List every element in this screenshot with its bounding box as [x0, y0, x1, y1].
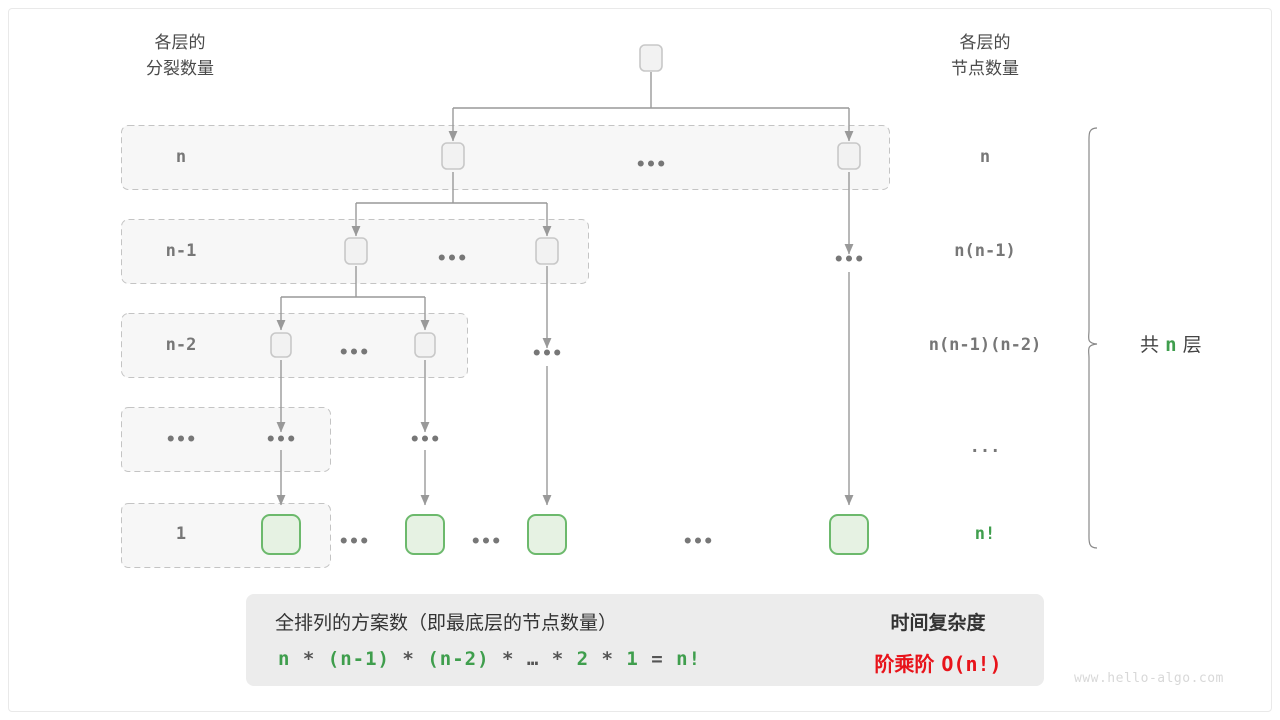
node-count-label-4: n!: [885, 524, 1085, 544]
leaf-ellipsis-1: •••: [334, 532, 374, 552]
node-l3-left: [271, 333, 291, 357]
formula-part-3: *: [390, 648, 427, 670]
complexity-label: 阶乘阶: [874, 652, 934, 676]
formula-part-2: (n-1): [328, 648, 390, 670]
total-levels-prefix: 共: [1140, 334, 1159, 356]
leaf-node-3: [528, 515, 566, 554]
formula-part-7: *: [589, 648, 626, 670]
node-l2-right: [536, 238, 558, 264]
column-ellipsis-right-upper: •••: [829, 250, 869, 270]
node-l2-left: [345, 238, 367, 264]
leaf-ellipsis-2: •••: [466, 532, 506, 552]
column-ellipsis-mid-lower: •••: [405, 430, 445, 450]
node-count-label-1: n(n-1): [885, 241, 1085, 261]
split-count-label-4: 1: [146, 524, 216, 544]
total-levels-suffix: 层: [1183, 334, 1202, 356]
total-levels-brace: [1089, 128, 1097, 548]
column-ellipsis-mid-upper: •••: [527, 344, 567, 364]
node-l3-right: [415, 333, 435, 357]
formula-part-8: 1: [626, 648, 638, 670]
row-ellipsis-n2-mid: •••: [334, 343, 374, 363]
formula-part-5: * … *: [490, 648, 577, 670]
column-ellipsis-left-lower: •••: [261, 430, 301, 450]
leaf-node-2: [406, 515, 444, 554]
split-count-label-3: •••: [161, 430, 201, 450]
node-l1-right: [838, 143, 860, 169]
complexity-value: 阶乘阶 O(n!): [843, 648, 1033, 677]
row-ellipsis-n-mid: •••: [631, 155, 671, 175]
split-count-label-1: n-1: [146, 241, 216, 261]
formula-part-10: n!: [676, 648, 701, 670]
node-count-label-2: n(n-1)(n-2): [885, 335, 1085, 355]
formula-part-0: n: [278, 648, 290, 670]
node-l1-left: [442, 143, 464, 169]
formula-part-6: 2: [577, 648, 589, 670]
total-levels-value: n: [1165, 334, 1176, 356]
node-count-label-0: n: [885, 147, 1085, 167]
split-count-label-2: n-2: [146, 335, 216, 355]
formula-part-4: (n-2): [427, 648, 489, 670]
leaf-node-4: [830, 515, 868, 554]
total-levels-label: 共 n 层: [1140, 330, 1202, 357]
diagram-canvas: 各层的 分裂数量 各层的 节点数量: [0, 0, 1280, 720]
formula-part-1: *: [290, 648, 327, 670]
row-band-n: [122, 126, 890, 190]
row-ellipsis-n1-mid: •••: [432, 249, 472, 269]
leaf-ellipsis-3: •••: [678, 532, 718, 552]
complexity-notation: O(n!): [941, 652, 1001, 676]
watermark: www.hello-algo.com: [1074, 671, 1224, 686]
leaf-node-1: [262, 515, 300, 554]
summary-title: 全排列的方案数（即最底层的节点数量）: [275, 608, 617, 635]
tree-nodes: [271, 45, 860, 357]
summary-formula: n * (n-1) * (n-2) * … * 2 * 1 = n!: [278, 648, 701, 670]
complexity-title: 时间复杂度: [853, 608, 1023, 635]
node-root: [640, 45, 662, 71]
row-bands: [122, 126, 890, 568]
formula-part-9: =: [639, 648, 676, 670]
split-count-label-0: n: [146, 147, 216, 167]
node-count-label-3: ...: [885, 437, 1085, 457]
